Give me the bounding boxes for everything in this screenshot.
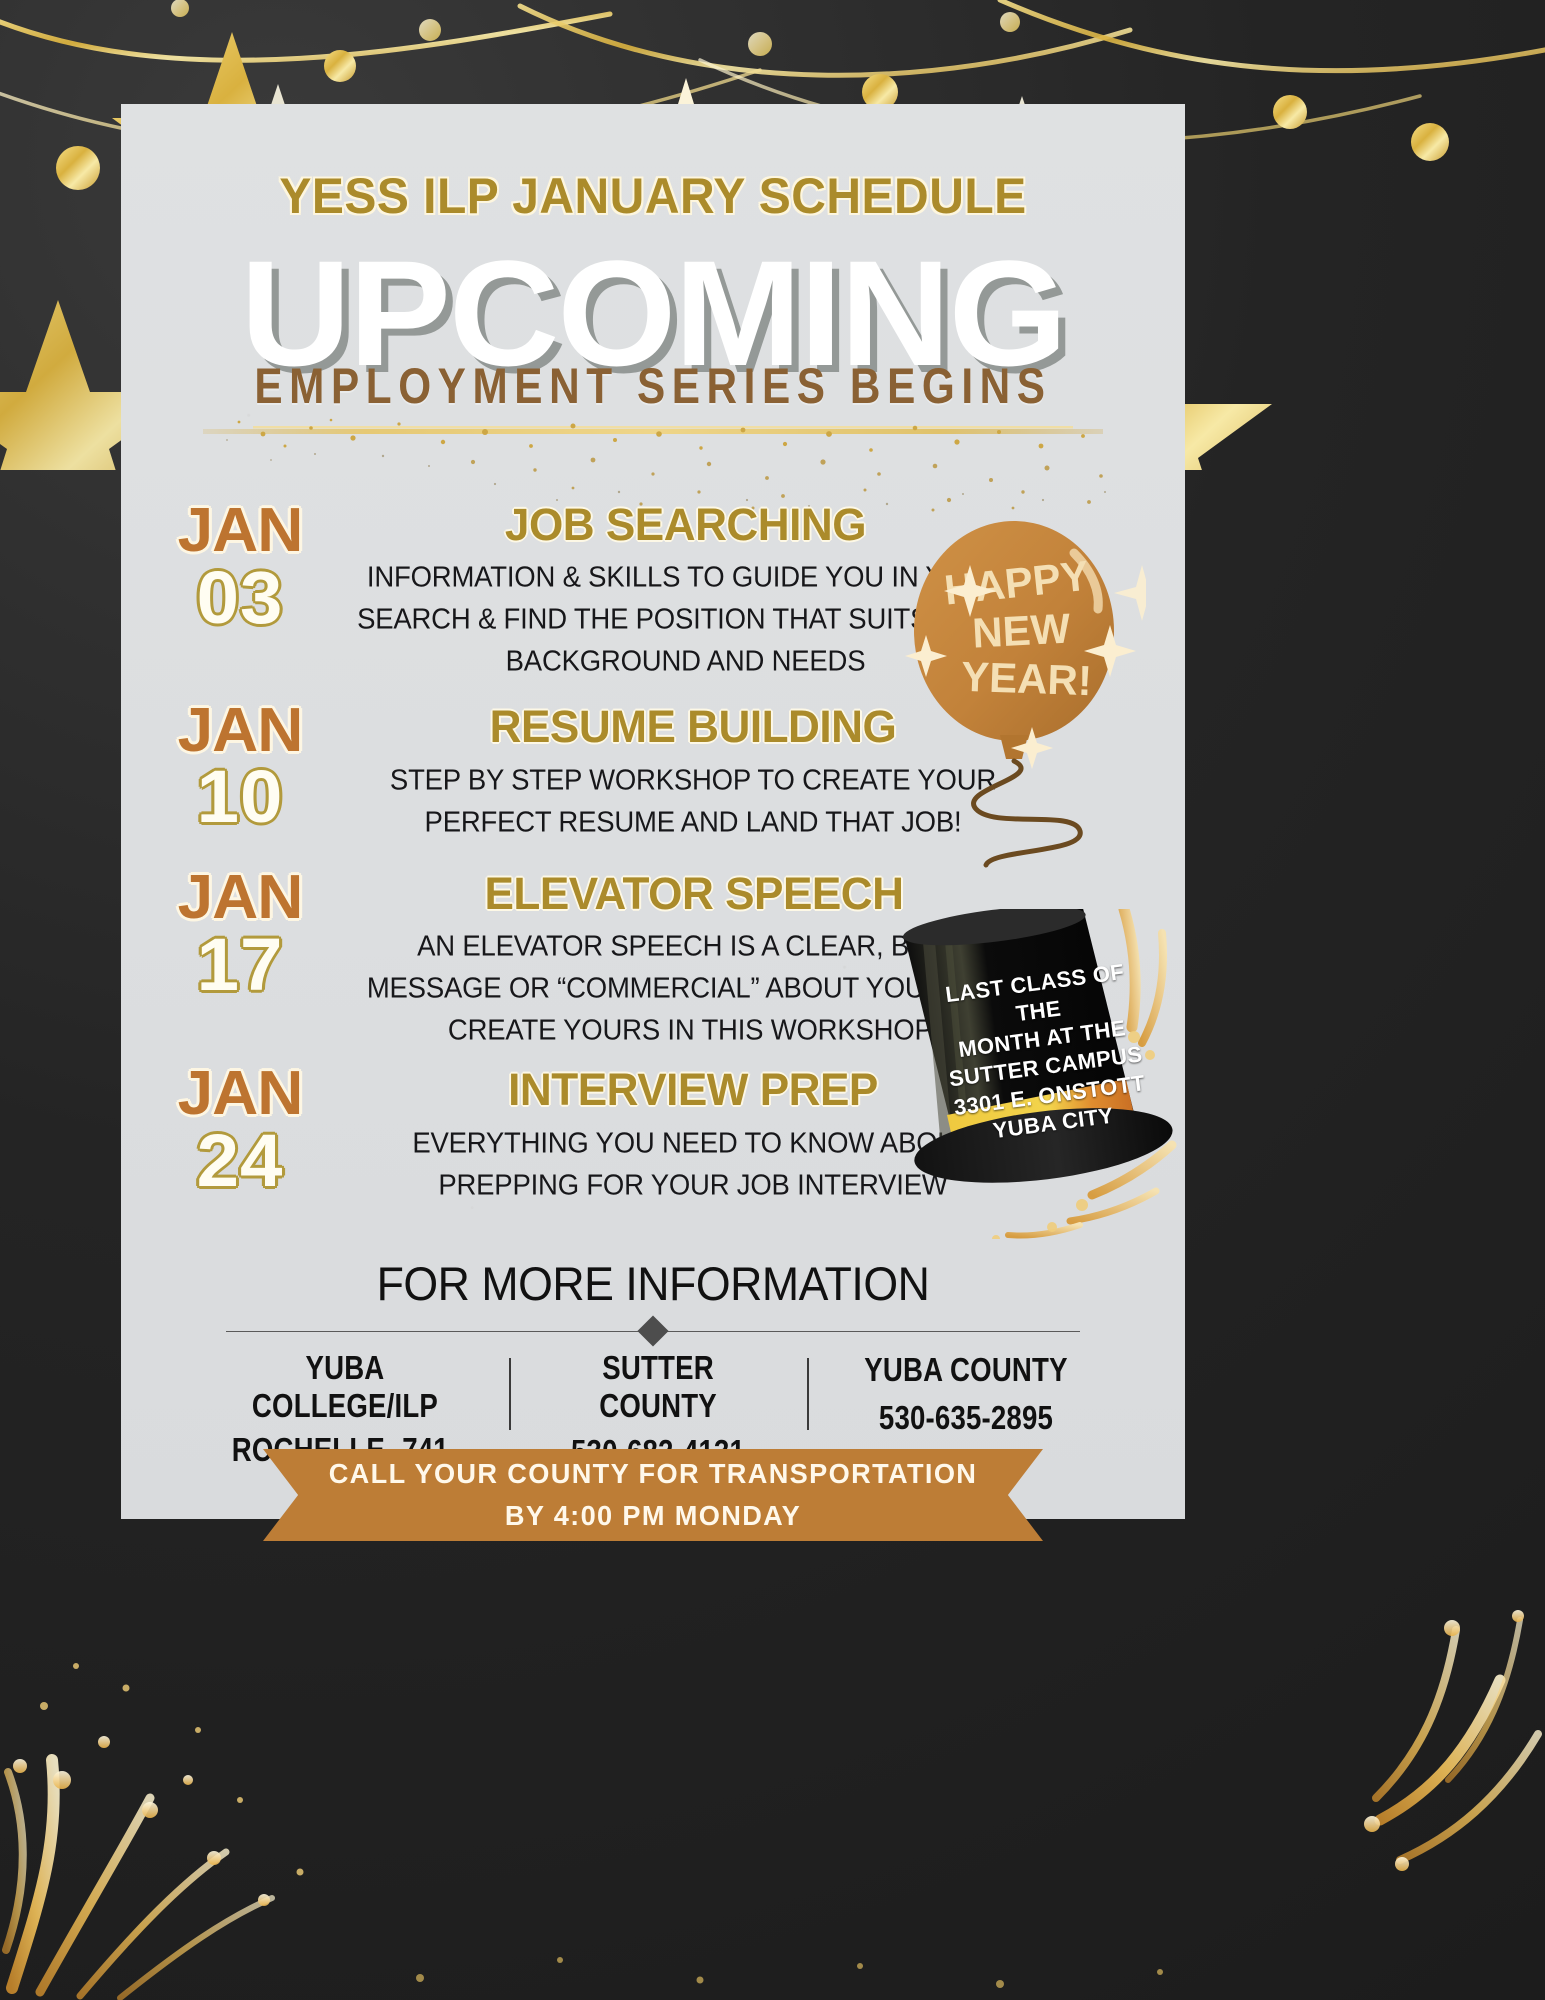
happy-new-year-balloon-icon: HAPPY NEW YEAR!	[896, 509, 1146, 889]
date-block: JAN 17	[121, 868, 341, 1002]
date-day: 24	[136, 1124, 344, 1198]
balloon-line-2: NEW	[971, 604, 1072, 656]
date-month: JAN	[136, 501, 344, 561]
date-month: JAN	[136, 1064, 344, 1124]
date-block: JAN 10	[121, 701, 341, 835]
ribbon-line-1: CALL YOUR COUNTY FOR TRANSPORTATION	[329, 1453, 978, 1495]
contact-item: YUBA COUNTY 530-635-2895	[807, 1354, 1125, 1436]
transportation-ribbon-banner: CALL YOUR COUNTY FOR TRANSPORTATION BY 4…	[263, 1449, 1043, 1541]
poster-kicker: YESS ILP JANUARY SCHEDULE	[142, 167, 1163, 225]
contact-value[interactable]: 530-635-2895	[844, 1400, 1089, 1438]
divider-diamond-icon	[637, 1315, 668, 1346]
date-block: JAN 24	[121, 1064, 341, 1198]
contact-name: SUTTER COUNTY	[545, 1350, 771, 1426]
date-block: JAN 03	[121, 499, 341, 635]
date-day: 03	[136, 561, 344, 635]
balloon-line-3: YEAR!	[960, 653, 1092, 705]
date-month: JAN	[136, 701, 344, 761]
date-month: JAN	[136, 868, 344, 928]
date-day: 17	[136, 928, 344, 1002]
hat-note-text: LAST CLASS OF THE MONTH AT THE SUTTER CA…	[919, 955, 1169, 1153]
contact-name: YUBA COUNTY	[844, 1352, 1089, 1390]
poster-subheadline: EMPLOYMENT SERIES BEGINS	[153, 357, 1153, 415]
more-information-heading: FOR MORE INFORMATION	[148, 1256, 1159, 1311]
date-day: 10	[136, 760, 344, 834]
poster-card: YESS ILP JANUARY SCHEDULE UPCOMING EMPLO…	[121, 104, 1185, 1519]
ribbon-text: CALL YOUR COUNTY FOR TRANSPORTATION BY 4…	[275, 1449, 1032, 1541]
diamond-divider	[226, 1320, 1080, 1342]
contact-name: YUBA COLLEGE/ILP	[218, 1350, 472, 1426]
ribbon-line-2: BY 4:00 PM MONDAY	[505, 1495, 801, 1537]
